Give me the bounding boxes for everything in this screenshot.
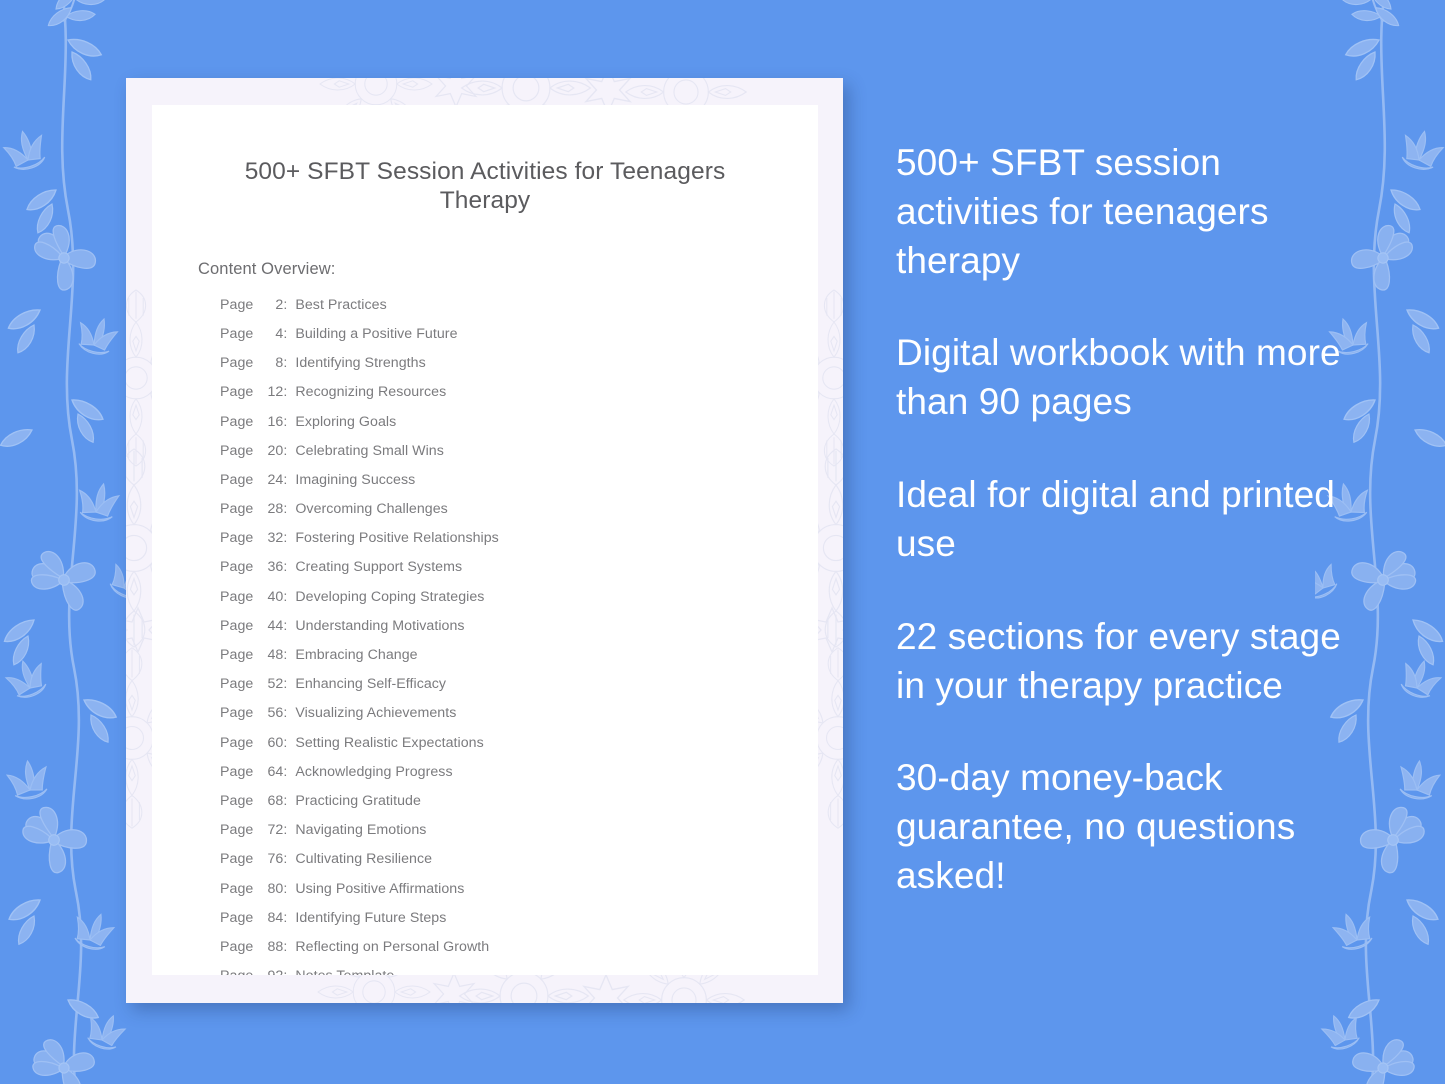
toc-page-number: 92 [257,968,283,975]
toc-page-word: Page [220,414,253,430]
workbook-page-surface: 500+ SFBT Session Activities for Teenage… [152,105,818,975]
toc-section-title: Building a Positive Future [295,326,457,342]
toc-page-number: 44 [257,618,283,634]
toc-colon: : [283,705,287,721]
toc-colon: : [283,326,287,342]
toc-page-number: 76 [257,851,283,867]
toc-entry: Page68:Practicing Gratitude [220,793,818,822]
workbook-preview-card: 500+ SFBT Session Activities for Teenage… [126,78,843,1003]
toc-page-word: Page [220,589,253,605]
toc-entry: Page12:Recognizing Resources [220,384,818,413]
toc-page-number: 56 [257,705,283,721]
toc-section-title: Embracing Change [295,647,417,663]
toc-page-number: 52 [257,676,283,692]
toc-section-title: Imagining Success [295,472,415,488]
toc-section-title: Acknowledging Progress [295,764,452,780]
toc-entry: Page4:Building a Positive Future [220,326,818,355]
toc-entry: Page36:Creating Support Systems [220,559,818,588]
toc-entry: Page2:Best Practices [220,297,818,326]
toc-entry: Page60:Setting Realistic Expectations [220,735,818,764]
toc-entry: Page32:Fostering Positive Relationships [220,530,818,559]
toc-page-number: 20 [257,443,283,459]
toc-page-number: 12 [257,384,283,400]
toc-section-title: Navigating Emotions [295,822,426,838]
toc-entry: Page88:Reflecting on Personal Growth [220,939,818,968]
toc-section-title: Fostering Positive Relationships [295,530,498,546]
toc-page-word: Page [220,881,253,897]
toc-colon: : [283,910,287,926]
marketing-line: Ideal for digital and printed use [896,471,1348,569]
toc-page-number: 64 [257,764,283,780]
marketing-line: 500+ SFBT session activities for teenage… [896,139,1348,285]
toc-page-number: 36 [257,559,283,575]
toc-page-word: Page [220,472,253,488]
page-title: 500+ SFBT Session Activities for Teenage… [152,105,818,216]
toc-page-word: Page [220,968,253,975]
toc-page-word: Page [220,705,253,721]
toc-page-number: 24 [257,472,283,488]
table-of-contents: Page2:Best PracticesPage4:Building a Pos… [152,279,818,975]
toc-section-title: Using Positive Affirmations [295,881,464,897]
toc-colon: : [283,618,287,634]
toc-page-number: 28 [257,501,283,517]
toc-section-title: Celebrating Small Wins [295,443,444,459]
toc-entry: Page52:Enhancing Self-Efficacy [220,676,818,705]
marketing-line: Digital workbook with more than 90 pages [896,329,1348,427]
toc-page-word: Page [220,851,253,867]
toc-entry: Page8:Identifying Strengths [220,355,818,384]
toc-entry: Page56:Visualizing Achievements [220,705,818,734]
toc-page-word: Page [220,501,253,517]
floral-border-left-icon [0,0,132,1084]
toc-colon: : [283,355,287,371]
toc-colon: : [283,676,287,692]
toc-colon: : [283,414,287,430]
toc-section-title: Notes Template [295,968,394,975]
toc-page-number: 40 [257,589,283,605]
toc-section-title: Overcoming Challenges [295,501,447,517]
toc-colon: : [283,939,287,955]
toc-page-number: 32 [257,530,283,546]
toc-entry: Page72:Navigating Emotions [220,822,818,851]
toc-colon: : [283,793,287,809]
toc-page-number: 48 [257,647,283,663]
toc-section-title: Enhancing Self-Efficacy [295,676,446,692]
toc-section-title: Reflecting on Personal Growth [295,939,489,955]
toc-entry: Page24:Imagining Success [220,472,818,501]
toc-colon: : [283,501,287,517]
toc-page-word: Page [220,559,253,575]
toc-entry: Page16:Exploring Goals [220,414,818,443]
toc-colon: : [283,647,287,663]
marketing-line: 30-day money-back guarantee, no question… [896,754,1348,900]
toc-section-title: Practicing Gratitude [295,793,421,809]
toc-entry: Page44:Understanding Motivations [220,618,818,647]
toc-entry: Page20:Celebrating Small Wins [220,443,818,472]
toc-page-word: Page [220,793,253,809]
toc-colon: : [283,472,287,488]
toc-colon: : [283,589,287,605]
toc-page-word: Page [220,764,253,780]
toc-colon: : [283,384,287,400]
toc-page-number: 68 [257,793,283,809]
toc-section-title: Visualizing Achievements [295,705,456,721]
toc-section-title: Understanding Motivations [295,618,464,634]
toc-page-number: 80 [257,881,283,897]
toc-entry: Page80:Using Positive Affirmations [220,881,818,910]
toc-page-number: 16 [257,414,283,430]
toc-entry: Page84:Identifying Future Steps [220,910,818,939]
toc-entry: Page92:Notes Template [220,968,818,975]
toc-colon: : [283,559,287,575]
toc-page-number: 60 [257,735,283,751]
toc-section-title: Setting Realistic Expectations [295,735,483,751]
toc-colon: : [283,530,287,546]
toc-colon: : [283,822,287,838]
toc-page-word: Page [220,647,253,663]
toc-page-word: Page [220,676,253,692]
toc-section-title: Best Practices [295,297,386,313]
toc-page-word: Page [220,297,253,313]
toc-entry: Page28:Overcoming Challenges [220,501,818,530]
toc-page-number: 88 [257,939,283,955]
toc-section-title: Identifying Strengths [295,355,425,371]
toc-page-word: Page [220,384,253,400]
toc-entry: Page40:Developing Coping Strategies [220,589,818,618]
toc-colon: : [283,764,287,780]
toc-section-title: Cultivating Resilience [295,851,432,867]
toc-page-word: Page [220,910,253,926]
toc-colon: : [283,443,287,459]
marketing-copy-panel: 500+ SFBT session activities for teenage… [896,139,1348,901]
toc-section-title: Developing Coping Strategies [295,589,484,605]
toc-page-number: 72 [257,822,283,838]
toc-page-word: Page [220,939,253,955]
toc-entry: Page64:Acknowledging Progress [220,764,818,793]
toc-section-title: Identifying Future Steps [295,910,446,926]
toc-page-word: Page [220,355,253,371]
toc-section-title: Creating Support Systems [295,559,462,575]
toc-colon: : [283,968,287,975]
toc-colon: : [283,851,287,867]
toc-colon: : [283,297,287,313]
toc-page-word: Page [220,326,253,342]
toc-colon: : [283,735,287,751]
toc-section-title: Recognizing Resources [295,384,446,400]
toc-page-number: 84 [257,910,283,926]
toc-page-word: Page [220,530,253,546]
toc-page-number: 2 [257,297,283,313]
toc-entry: Page48:Embracing Change [220,647,818,676]
toc-page-number: 8 [257,355,283,371]
toc-page-number: 4 [257,326,283,342]
toc-page-word: Page [220,822,253,838]
marketing-line: 22 sections for every stage in your ther… [896,613,1348,711]
toc-page-word: Page [220,735,253,751]
toc-section-title: Exploring Goals [295,414,396,430]
toc-page-word: Page [220,618,253,634]
toc-page-word: Page [220,443,253,459]
content-overview-label: Content Overview: [152,216,818,279]
toc-entry: Page76:Cultivating Resilience [220,851,818,880]
toc-colon: : [283,881,287,897]
